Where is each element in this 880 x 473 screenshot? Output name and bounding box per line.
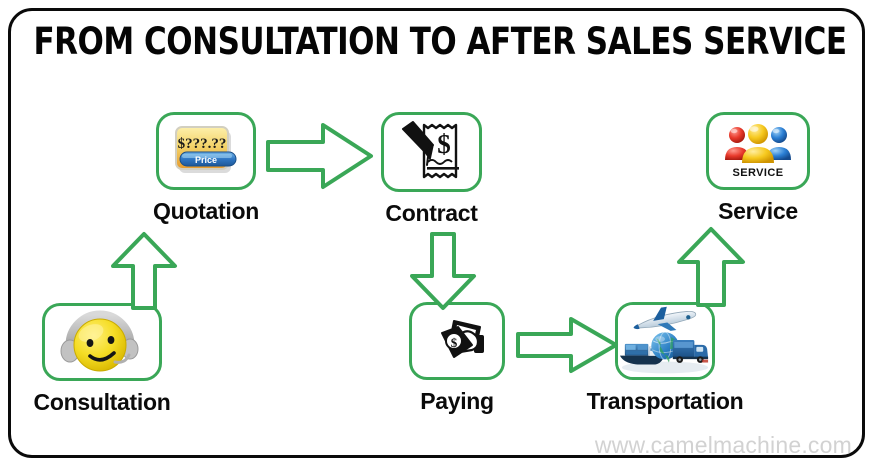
price-tag-icon: $???.?? Price <box>170 122 242 180</box>
pen-signing-document-icon: $ <box>397 119 467 185</box>
quotation-icon-box: $???.?? Price <box>156 112 256 190</box>
arrow-transportation-to-service <box>673 226 751 313</box>
transportation-icon-box <box>615 302 715 380</box>
service-label: Service <box>718 198 798 225</box>
contract-dollar-text: $ <box>437 129 451 159</box>
service-icon-box: SERVICE <box>706 112 810 190</box>
three-people-icon: SERVICE <box>720 120 796 182</box>
consultation-label: Consultation <box>34 389 171 416</box>
paying-label: Paying <box>420 388 494 415</box>
quotation-amount-text: $???.?? <box>178 136 227 152</box>
service-icon-text: SERVICE <box>733 167 784 179</box>
flow-node-transportation[interactable]: Transportation <box>615 302 715 380</box>
paying-dollar-text: $ <box>451 335 458 350</box>
contract-label: Contract <box>385 200 477 227</box>
arrow-consultation-to-quotation <box>105 231 183 316</box>
diagram-title: FROM CONSULTATION TO AFTER SALES SERVICE <box>31 20 849 63</box>
quotation-banner-text: Price <box>195 155 217 165</box>
hand-holding-money-icon: $ <box>424 313 490 369</box>
flow-node-quotation[interactable]: $???.?? Price Quotation <box>156 112 256 190</box>
logistics-plane-ship-truck-icon <box>618 304 712 378</box>
flow-diagram-canvas: FROM CONSULTATION TO AFTER SALES SERVICE <box>0 0 880 473</box>
arrow-quotation-to-contract <box>265 118 375 199</box>
flow-node-contract[interactable]: $ Contract <box>381 112 482 192</box>
quotation-label: Quotation <box>153 198 259 225</box>
flow-node-service[interactable]: SERVICE Service <box>706 112 810 190</box>
headset-smiley-icon <box>59 309 145 375</box>
transportation-label: Transportation <box>587 388 744 415</box>
arrow-paying-to-transportation <box>515 315 620 380</box>
arrow-contract-to-paying <box>404 231 482 316</box>
site-watermark: www.camelmachine.com <box>595 432 852 459</box>
contract-icon-box: $ <box>381 112 482 192</box>
